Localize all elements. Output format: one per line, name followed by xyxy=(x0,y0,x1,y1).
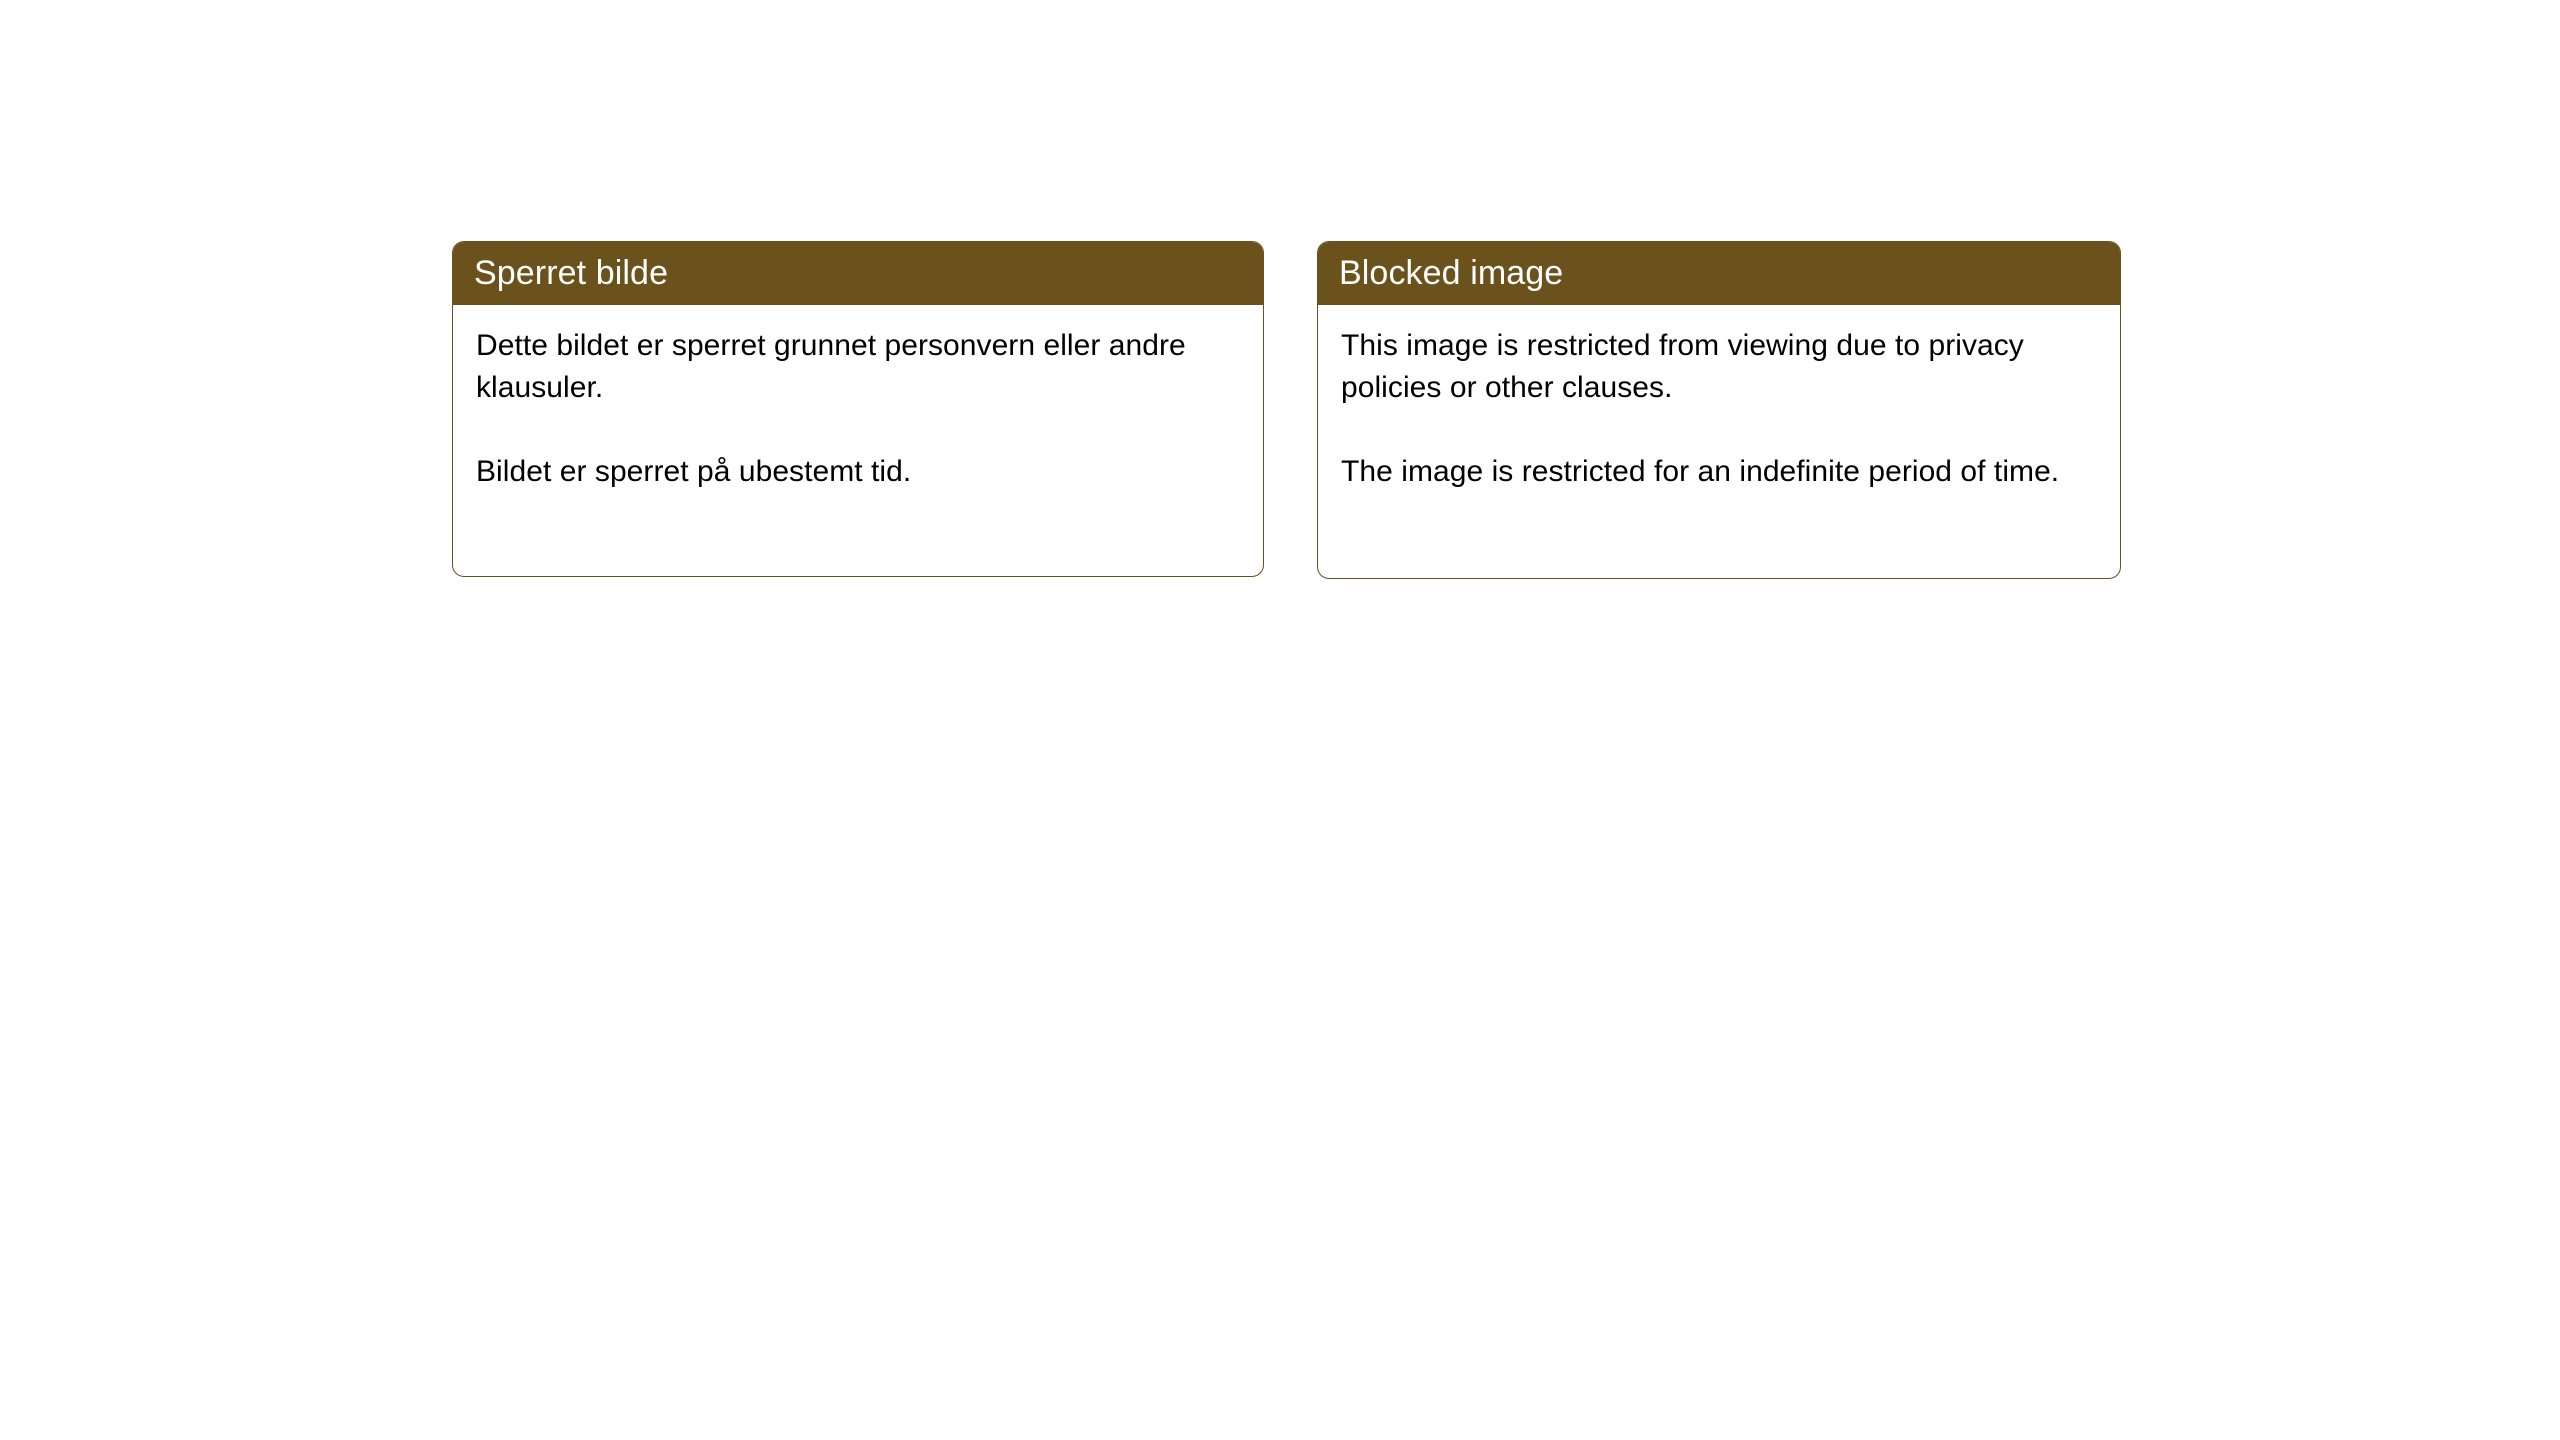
blocked-image-card-english: Blocked image This image is restricted f… xyxy=(1317,241,2121,579)
card-header-norwegian: Sperret bilde xyxy=(452,241,1264,305)
card-paragraph-duration-english: The image is restricted for an indefinit… xyxy=(1341,451,2100,493)
card-header-english: Blocked image xyxy=(1317,241,2121,305)
card-paragraph-reason-norwegian: Dette bildet er sperret grunnet personve… xyxy=(476,325,1243,409)
card-title-english: Blocked image xyxy=(1339,253,1563,293)
card-paragraph-reason-english: This image is restricted from viewing du… xyxy=(1341,325,2100,409)
blocked-image-card-norwegian: Sperret bilde Dette bildet er sperret gr… xyxy=(452,241,1264,577)
card-body-english: This image is restricted from viewing du… xyxy=(1318,305,2120,493)
page-canvas: Sperret bilde Dette bildet er sperret gr… xyxy=(0,0,2560,1440)
card-paragraph-duration-norwegian: Bildet er sperret på ubestemt tid. xyxy=(476,451,1243,493)
card-title-norwegian: Sperret bilde xyxy=(474,253,668,293)
card-body-norwegian: Dette bildet er sperret grunnet personve… xyxy=(453,305,1263,493)
